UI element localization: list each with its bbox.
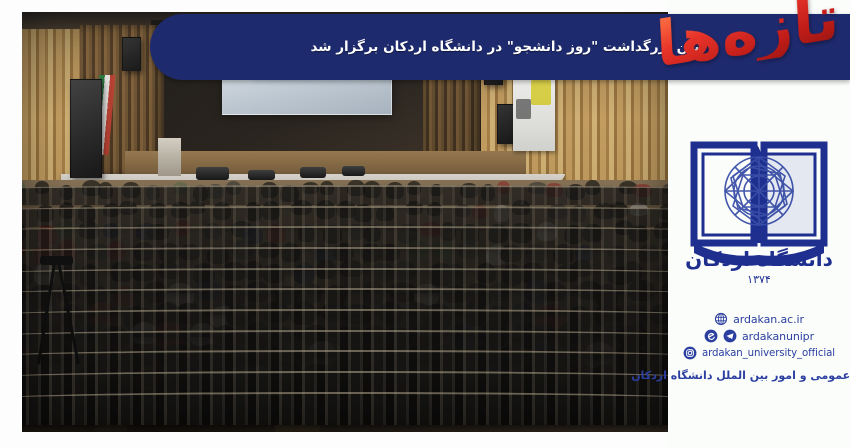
headline-banner: آیین بزرگداشت "روز دانشجو" در دانشگاه ار… [150,14,850,80]
contact-row-messengers: ardakanunipr [704,329,814,343]
telegram-icon[interactable] [723,329,737,343]
stage-monitor [196,167,228,180]
ardakan-university-logo: دانشگاه اردکان ۱۳۷۴ [684,123,834,293]
page-title: آیین بزرگداشت "روز دانشجو" در دانشگاه ار… [310,39,704,55]
stage-monitor [300,167,326,178]
camera-tripod [35,256,93,365]
contact-block: ardakan.ac.ir ardakanunipr [668,312,850,382]
wall-speaker [122,37,141,71]
logo-container: دانشگاه اردکان ۱۳۷۴ [668,118,850,298]
messenger-handle[interactable]: ardakanunipr [742,330,814,343]
instagram-icon[interactable] [683,346,697,360]
poster-canvas: آیین بزرگداشت "روز دانشجو" در دانشگاه ار… [0,0,850,448]
seat-row [22,206,668,227]
eitaa-icon[interactable] [704,329,718,343]
audience-area [22,180,668,432]
instagram-handle[interactable]: ardakan_university_official [702,348,835,359]
svg-text:۱۳۷۴: ۱۳۷۴ [747,273,771,286]
stage-monitor [248,170,275,181]
logo-svg: دانشگاه اردکان ۱۳۷۴ [684,123,834,293]
contact-row-instagram: ardakan_university_official [683,346,835,360]
contact-row-website: ardakan.ac.ir [714,312,804,326]
podium [158,138,181,176]
stage-monitor [342,166,365,176]
website-url[interactable]: ardakan.ac.ir [733,313,804,326]
seat-row [22,185,668,205]
seat-row [22,392,668,426]
svg-text:دانشگاه اردکان: دانشگاه اردکان [685,247,833,271]
speaker-stack [70,79,101,178]
seat-row [22,226,668,248]
globe-icon [714,312,728,326]
public-relations-footer: روابط عمومی و امور بین الملل دانشگاه ارد… [631,369,850,382]
